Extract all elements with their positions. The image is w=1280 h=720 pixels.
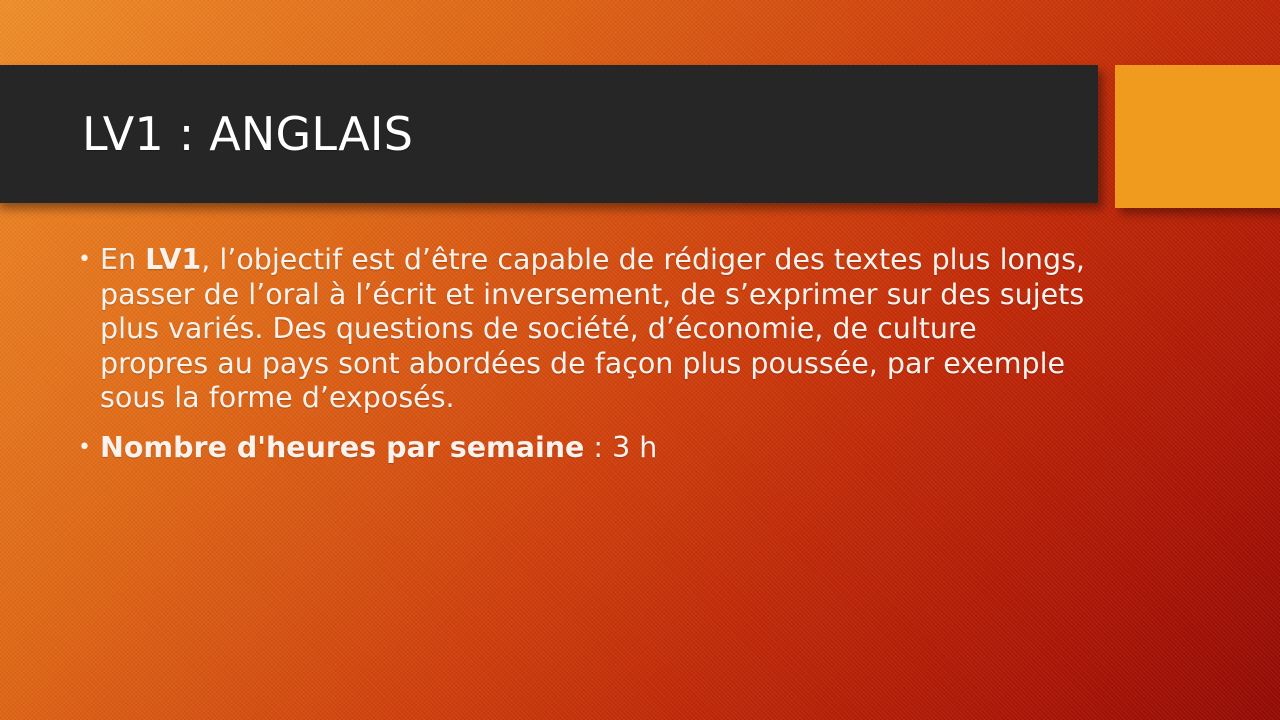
slide-title-bar: LV1 : ANGLAIS (0, 65, 1098, 203)
bullet-text-heures: Nombre d'heures par semaine : 3 h (100, 431, 1088, 466)
bullet-text-objectif: En LV1, l’objectif est d’être capable de… (100, 243, 1088, 416)
slide-body: • En LV1, l’objectif est d’être capable … (78, 243, 1088, 465)
bullet-marker-icon: • (78, 431, 100, 466)
presentation-slide: LV1 : ANGLAIS • En LV1, l’objectif est d… (0, 0, 1280, 720)
list-item: • Nombre d'heures par semaine : 3 h (78, 431, 1088, 466)
list-item: • En LV1, l’objectif est d’être capable … (78, 243, 1088, 416)
bullet-marker-icon: • (78, 243, 100, 278)
slide-title: LV1 : ANGLAIS (82, 111, 413, 157)
accent-block-decoration (1115, 65, 1280, 208)
